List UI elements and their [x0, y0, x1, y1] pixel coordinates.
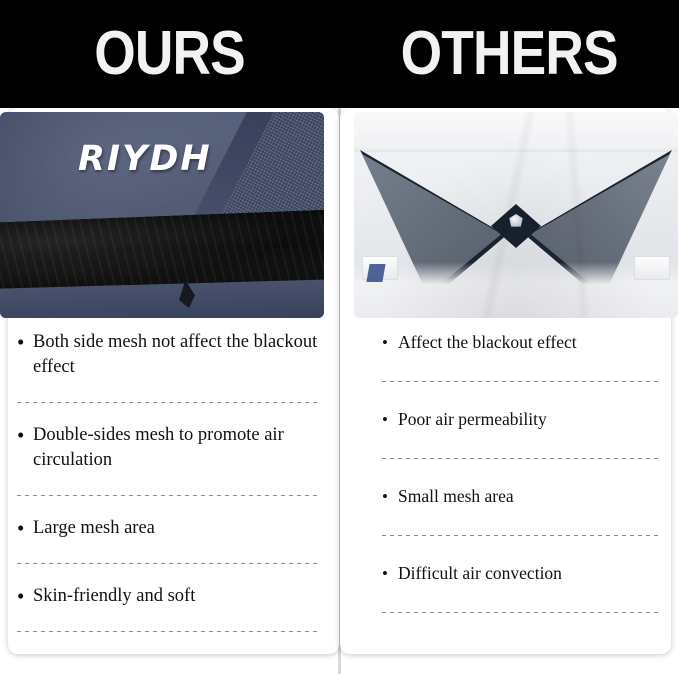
list-item: • Skin-friendly and soft: [17, 584, 320, 609]
spacer: [382, 459, 660, 484]
spacer: [382, 432, 660, 458]
list-item: • Poor air permeability: [382, 407, 660, 432]
bullet-icon: •: [17, 516, 33, 541]
spacer: [382, 355, 660, 381]
spacer: [17, 541, 320, 563]
spacer: [17, 609, 320, 631]
spacer: [382, 509, 660, 535]
list-item: • Affect the blackout effect: [382, 330, 660, 355]
spacer: [382, 586, 660, 612]
spacer: [17, 496, 320, 516]
bullet-icon: •: [17, 330, 33, 355]
list-item-text: Poor air permeability: [398, 407, 660, 432]
list-item-text: Large mesh area: [33, 516, 320, 541]
ours-bullet-list: • Both side mesh not affect the blackout…: [17, 330, 320, 632]
others-bullet-list: • Affect the blackout effect • Poor air …: [382, 330, 660, 613]
ours-title: OURS: [94, 23, 245, 85]
spacer: [17, 473, 320, 495]
spacer: [17, 403, 320, 423]
list-item-text: Affect the blackout effect: [398, 330, 660, 355]
spacer: [17, 380, 320, 402]
comparison-header: OURS OTHERS: [0, 0, 679, 108]
column-others: • Affect the blackout effect • Poor air …: [340, 108, 679, 674]
list-item-text: Difficult air convection: [398, 561, 660, 586]
navy-tent-body: RIYDH: [0, 112, 324, 318]
header-cell-others: OTHERS: [340, 0, 679, 108]
list-item: • Double-sides mesh to promote air circu…: [17, 423, 320, 473]
list-item: • Large mesh area: [17, 516, 320, 541]
bullet-icon: •: [382, 484, 398, 509]
list-item: • Difficult air convection: [382, 561, 660, 586]
dashed-separator: [382, 612, 660, 613]
brand-logo-text: RIYDH: [78, 142, 212, 177]
fabric-creases: [354, 112, 678, 318]
spacer: [382, 536, 660, 561]
list-item: • Both side mesh not affect the blackout…: [17, 330, 320, 380]
ours-photo: RIYDH: [0, 112, 324, 318]
header-cell-ours: OURS: [0, 0, 340, 108]
others-photo: [354, 112, 678, 318]
bullet-icon: •: [382, 561, 398, 586]
list-item-text: Double-sides mesh to promote air circula…: [33, 423, 320, 473]
bullet-icon: •: [17, 423, 33, 448]
bullet-icon: •: [382, 407, 398, 432]
spacer: [382, 382, 660, 407]
list-item: • Small mesh area: [382, 484, 660, 509]
list-item-text: Both side mesh not affect the blackout e…: [33, 330, 320, 380]
list-item-text: Skin-friendly and soft: [33, 584, 320, 609]
comparison-columns: RIYDH • Both side mesh not affect the bl…: [0, 108, 679, 674]
others-title: OTHERS: [401, 23, 618, 85]
dashed-separator: [17, 631, 320, 632]
bullet-icon: •: [17, 584, 33, 609]
bullet-icon: •: [382, 330, 398, 355]
column-ours: RIYDH • Both side mesh not affect the bl…: [0, 108, 339, 674]
list-item-text: Small mesh area: [398, 484, 660, 509]
white-tent-body: [354, 112, 678, 318]
spacer: [17, 564, 320, 584]
